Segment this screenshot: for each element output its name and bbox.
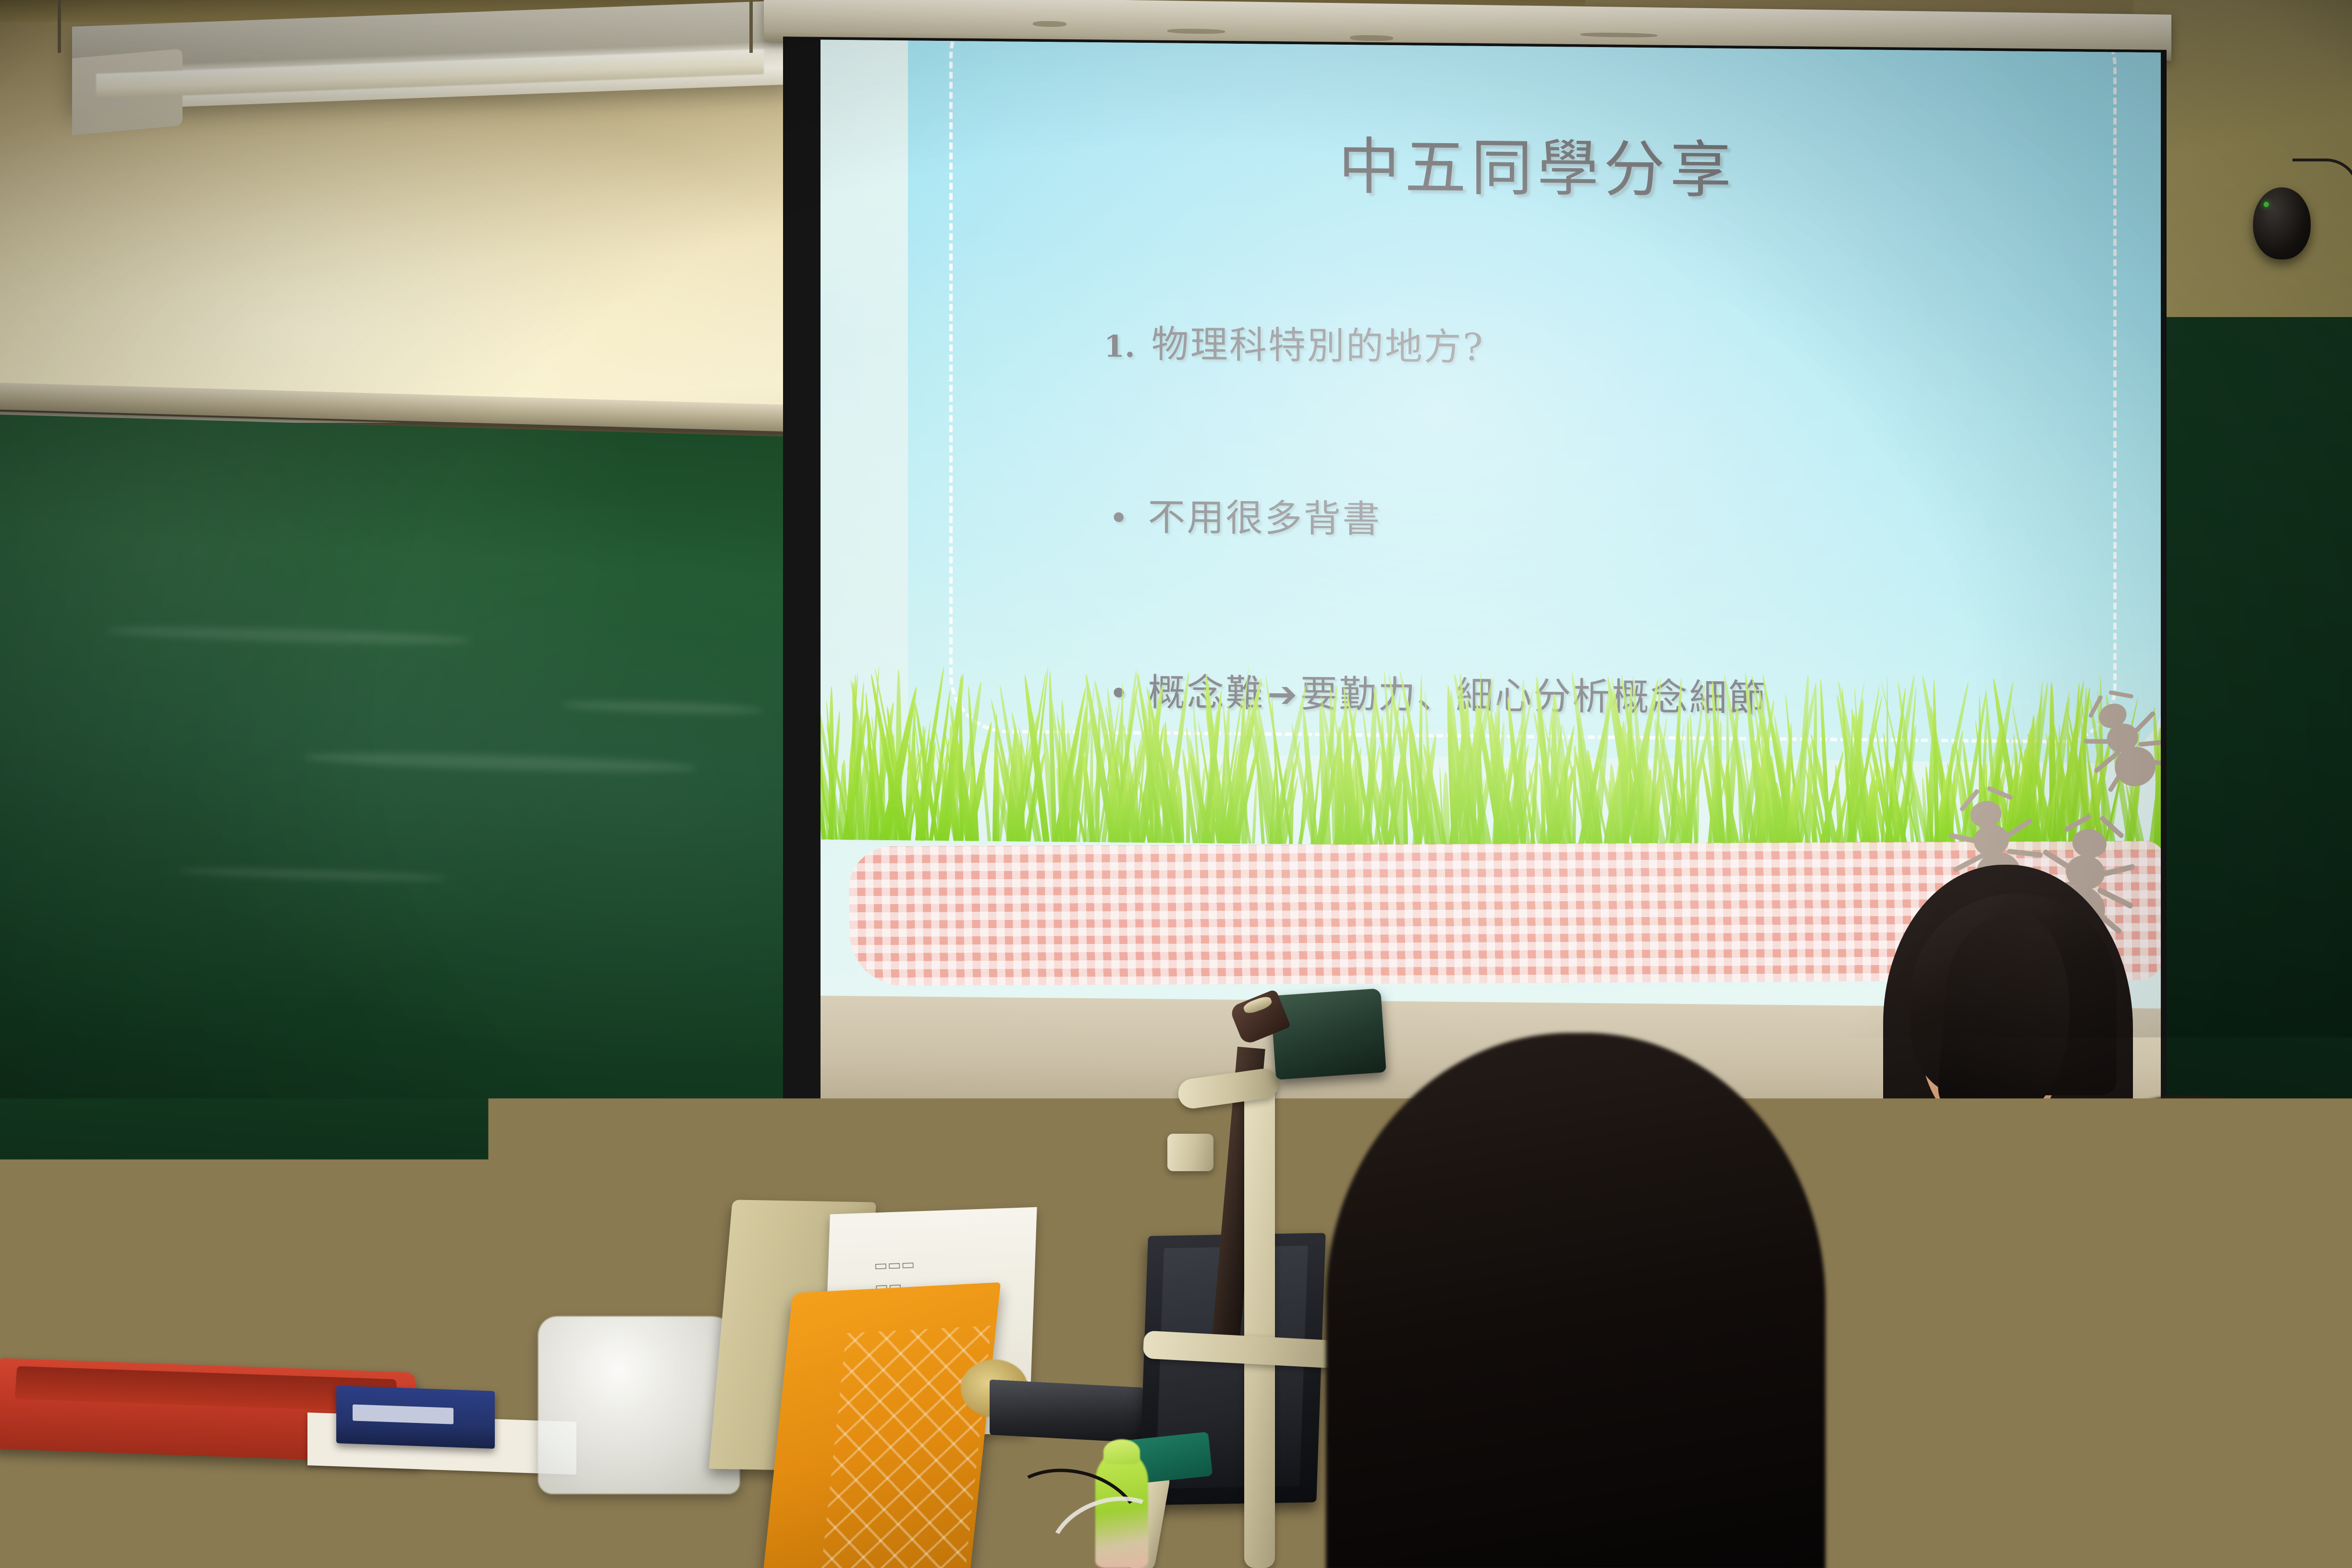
ant-limb (2139, 739, 2161, 747)
list-marker-number: 1. (1104, 329, 1135, 364)
spray-bottle-nozzle (1103, 1439, 1140, 1464)
binder-clip-icon (421, 1243, 453, 1281)
list-item-text: 不用很多背書 (1148, 487, 1381, 543)
bullet-dot-icon: • (1109, 510, 1128, 527)
visualiser-collar (1167, 1134, 1213, 1171)
light-hanger-icon (749, 0, 753, 53)
mesh-pattern (820, 1326, 992, 1568)
speaker-cable (2292, 159, 2352, 197)
list-item-text: 物理科特別的地方? (1151, 314, 1484, 371)
slide-list-item: • 不用很多背書 (1109, 487, 1381, 543)
green-chalkboard (0, 415, 797, 1201)
box-label (353, 1404, 453, 1424)
wall-speaker-icon (2253, 187, 2311, 259)
orange-file-holder (762, 1282, 1001, 1568)
ant-limb (2084, 739, 2113, 744)
ant-limb (2132, 710, 2156, 735)
visualiser-camera-head (1270, 988, 1386, 1080)
visualiser-vertical-post (1244, 1086, 1275, 1568)
speaker-led-indicator (2264, 202, 2269, 207)
blue-supply-box (336, 1385, 495, 1449)
grass-blade (958, 679, 964, 841)
slide-title: 中五同學分享 (908, 112, 2161, 213)
black-equipment-box (990, 1380, 1143, 1443)
classroom-presentation-photo: 中五同學分享 1. 物理科特別的地方? • 不用很多背書 • 概念難 ➔ 要勤力… (0, 0, 2352, 1568)
light-hanger-icon (58, 0, 61, 53)
slide-list-item: 1. 物理科特別的地方? (1104, 314, 1484, 371)
grass-blade (1252, 779, 1258, 844)
